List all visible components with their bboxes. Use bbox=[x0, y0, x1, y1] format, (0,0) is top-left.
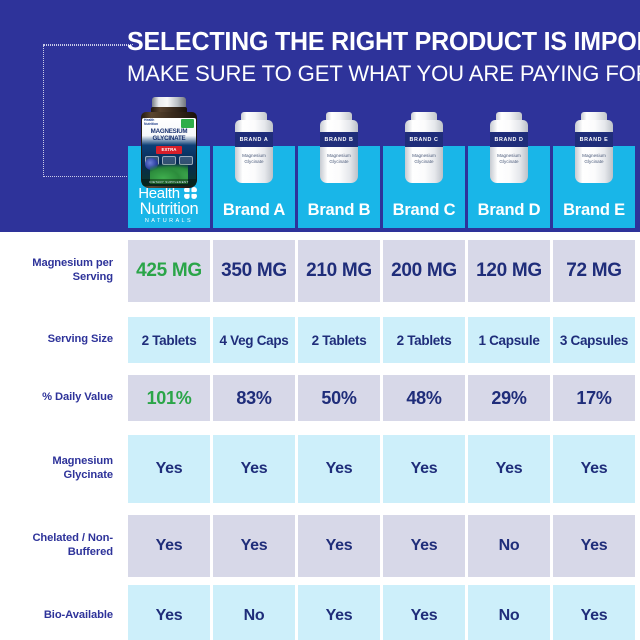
table-cell: 3 Capsules bbox=[553, 317, 635, 363]
table-cell: No bbox=[213, 585, 295, 640]
table-cell: 2 Tablets bbox=[383, 317, 465, 363]
competitor-bottle-brand-e: BRAND EMagnesiumGlycinate bbox=[572, 112, 616, 186]
bottle-brand-text: BRAND E bbox=[580, 137, 609, 143]
table-cell: Yes bbox=[128, 515, 210, 577]
bottle-brand-text: BRAND C bbox=[409, 137, 438, 143]
bottle-label-band: BRAND D bbox=[490, 132, 528, 147]
table-cell: 29% bbox=[468, 375, 550, 421]
headline: SELECTING THE RIGHT PRODUCT IS IMPORTANT… bbox=[127, 29, 617, 57]
brand-name-label: Brand D bbox=[468, 201, 550, 220]
table-cell: 50% bbox=[298, 375, 380, 421]
bottle-green-badge bbox=[181, 119, 194, 128]
table-cell: 48% bbox=[383, 375, 465, 421]
table-row: MagnesiumGlycinateYesYesYesYesYesYes bbox=[0, 435, 640, 503]
bottle-body: BRAND EMagnesiumGlycinate bbox=[575, 120, 613, 183]
table-cell: Yes bbox=[468, 435, 550, 503]
table-cell: Yes bbox=[553, 585, 635, 640]
logo-line-2: Nutrition bbox=[128, 201, 210, 218]
decorative-dotted-line-top bbox=[43, 44, 133, 45]
bottle-bottom-text: DIETARY SUPPLEMENT bbox=[142, 179, 196, 186]
competitor-bottle-brand-a: BRAND AMagnesiumGlycinate bbox=[232, 112, 276, 186]
table-cell: Yes bbox=[383, 435, 465, 503]
brand-name-label: Brand B bbox=[298, 201, 380, 220]
table-cell: Yes bbox=[383, 515, 465, 577]
bottle-brand-text: BRAND B bbox=[324, 137, 353, 143]
bottle-title-text: MAGNESIUMGLYCINATE bbox=[142, 129, 196, 142]
bottle-body: BRAND CMagnesiumGlycinate bbox=[405, 120, 443, 183]
bottle-body: BRAND DMagnesiumGlycinate bbox=[490, 120, 528, 183]
row-label: Bio-Available bbox=[0, 585, 124, 640]
table-cell: 425 MG bbox=[128, 240, 210, 302]
table-cell: 4 Veg Caps bbox=[213, 317, 295, 363]
bottle-label-band: BRAND B bbox=[320, 132, 358, 147]
brand-name-label: Brand C bbox=[383, 201, 465, 220]
bottle-product-text: MagnesiumGlycinate bbox=[490, 153, 528, 165]
infographic-page: SELECTING THE RIGHT PRODUCT IS IMPORTANT… bbox=[0, 0, 640, 640]
table-cell: 72 MG bbox=[553, 240, 635, 302]
table-cell: Yes bbox=[128, 435, 210, 503]
table-cell: Yes bbox=[553, 515, 635, 577]
hero-product-bottle: HealthNutritionMAGNESIUMGLYCINATEEXTRADI… bbox=[141, 97, 197, 192]
decorative-dotted-line-bottom bbox=[43, 176, 133, 177]
row-label: MagnesiumGlycinate bbox=[0, 435, 124, 503]
bottle-brand-text: BRAND A bbox=[240, 137, 269, 143]
table-cell: Yes bbox=[553, 435, 635, 503]
table-cell: Yes bbox=[298, 585, 380, 640]
row-label: Chelated / Non-Buffered bbox=[0, 515, 124, 577]
bottle-brand-text: BRAND D bbox=[494, 137, 523, 143]
bottle-label-band: BRAND C bbox=[405, 132, 443, 147]
bottle-body: BRAND BMagnesiumGlycinate bbox=[320, 120, 358, 183]
competitor-bottle-brand-c: BRAND CMagnesiumGlycinate bbox=[402, 112, 446, 186]
table-cell: Yes bbox=[213, 515, 295, 577]
table-row: % Daily Value101%83%50%48%29%17% bbox=[0, 375, 640, 421]
row-label: Serving Size bbox=[0, 317, 124, 363]
bottle-body: BRAND AMagnesiumGlycinate bbox=[235, 120, 273, 183]
bottle-label-band: BRAND A bbox=[235, 132, 273, 147]
bottle-product-text: MagnesiumGlycinate bbox=[235, 153, 273, 165]
table-cell: Yes bbox=[128, 585, 210, 640]
table-cell: 1 Capsule bbox=[468, 317, 550, 363]
bottle-product-text: MagnesiumGlycinate bbox=[320, 153, 358, 165]
table-cell: 17% bbox=[553, 375, 635, 421]
table-cell: Yes bbox=[383, 585, 465, 640]
table-cell: Yes bbox=[213, 435, 295, 503]
table-cell: 120 MG bbox=[468, 240, 550, 302]
row-label: % Daily Value bbox=[0, 375, 124, 421]
logo-line-3: NATURALS bbox=[128, 219, 210, 225]
table-cell: 83% bbox=[213, 375, 295, 421]
table-cell: 350 MG bbox=[213, 240, 295, 302]
table-row: Bio-AvailableYesNoYesYesNoYes bbox=[0, 585, 640, 640]
bottle-product-text: MagnesiumGlycinate bbox=[575, 153, 613, 165]
competitor-bottle-brand-b: BRAND BMagnesiumGlycinate bbox=[317, 112, 361, 186]
decorative-dotted-frame bbox=[43, 45, 131, 177]
bottle-label-band: BRAND E bbox=[575, 132, 613, 147]
row-label: Magnesium perServing bbox=[0, 240, 124, 302]
brand-name-label: Brand A bbox=[213, 201, 295, 220]
table-cell: Yes bbox=[298, 435, 380, 503]
table-row: Magnesium perServing425 MG350 MG210 MG20… bbox=[0, 240, 640, 302]
bottle-extra-strength-flag: EXTRA bbox=[156, 146, 182, 154]
table-cell: 2 Tablets bbox=[128, 317, 210, 363]
competitor-bottle-brand-d: BRAND DMagnesiumGlycinate bbox=[487, 112, 531, 186]
table-cell: 101% bbox=[128, 375, 210, 421]
bottle-product-text: MagnesiumGlycinate bbox=[405, 153, 443, 165]
table-cell: 2 Tablets bbox=[298, 317, 380, 363]
table-cell: 200 MG bbox=[383, 240, 465, 302]
table-row: Serving Size2 Tablets4 Veg Caps2 Tablets… bbox=[0, 317, 640, 363]
table-cell: Yes bbox=[298, 515, 380, 577]
table-cell: 210 MG bbox=[298, 240, 380, 302]
bottle-brand-text: HealthNutrition bbox=[144, 119, 158, 126]
bottle-body: HealthNutritionMAGNESIUMGLYCINATEEXTRADI… bbox=[141, 112, 197, 188]
table-cell: No bbox=[468, 585, 550, 640]
subheadline: MAKE SURE TO GET WHAT YOU ARE PAYING FOR bbox=[127, 62, 617, 87]
bottle-label: HealthNutritionMAGNESIUMGLYCINATEEXTRADI… bbox=[142, 118, 196, 186]
brand-name-label: Brand E bbox=[553, 201, 635, 220]
table-cell: No bbox=[468, 515, 550, 577]
table-row: Chelated / Non-BufferedYesYesYesYesNoYes bbox=[0, 515, 640, 577]
